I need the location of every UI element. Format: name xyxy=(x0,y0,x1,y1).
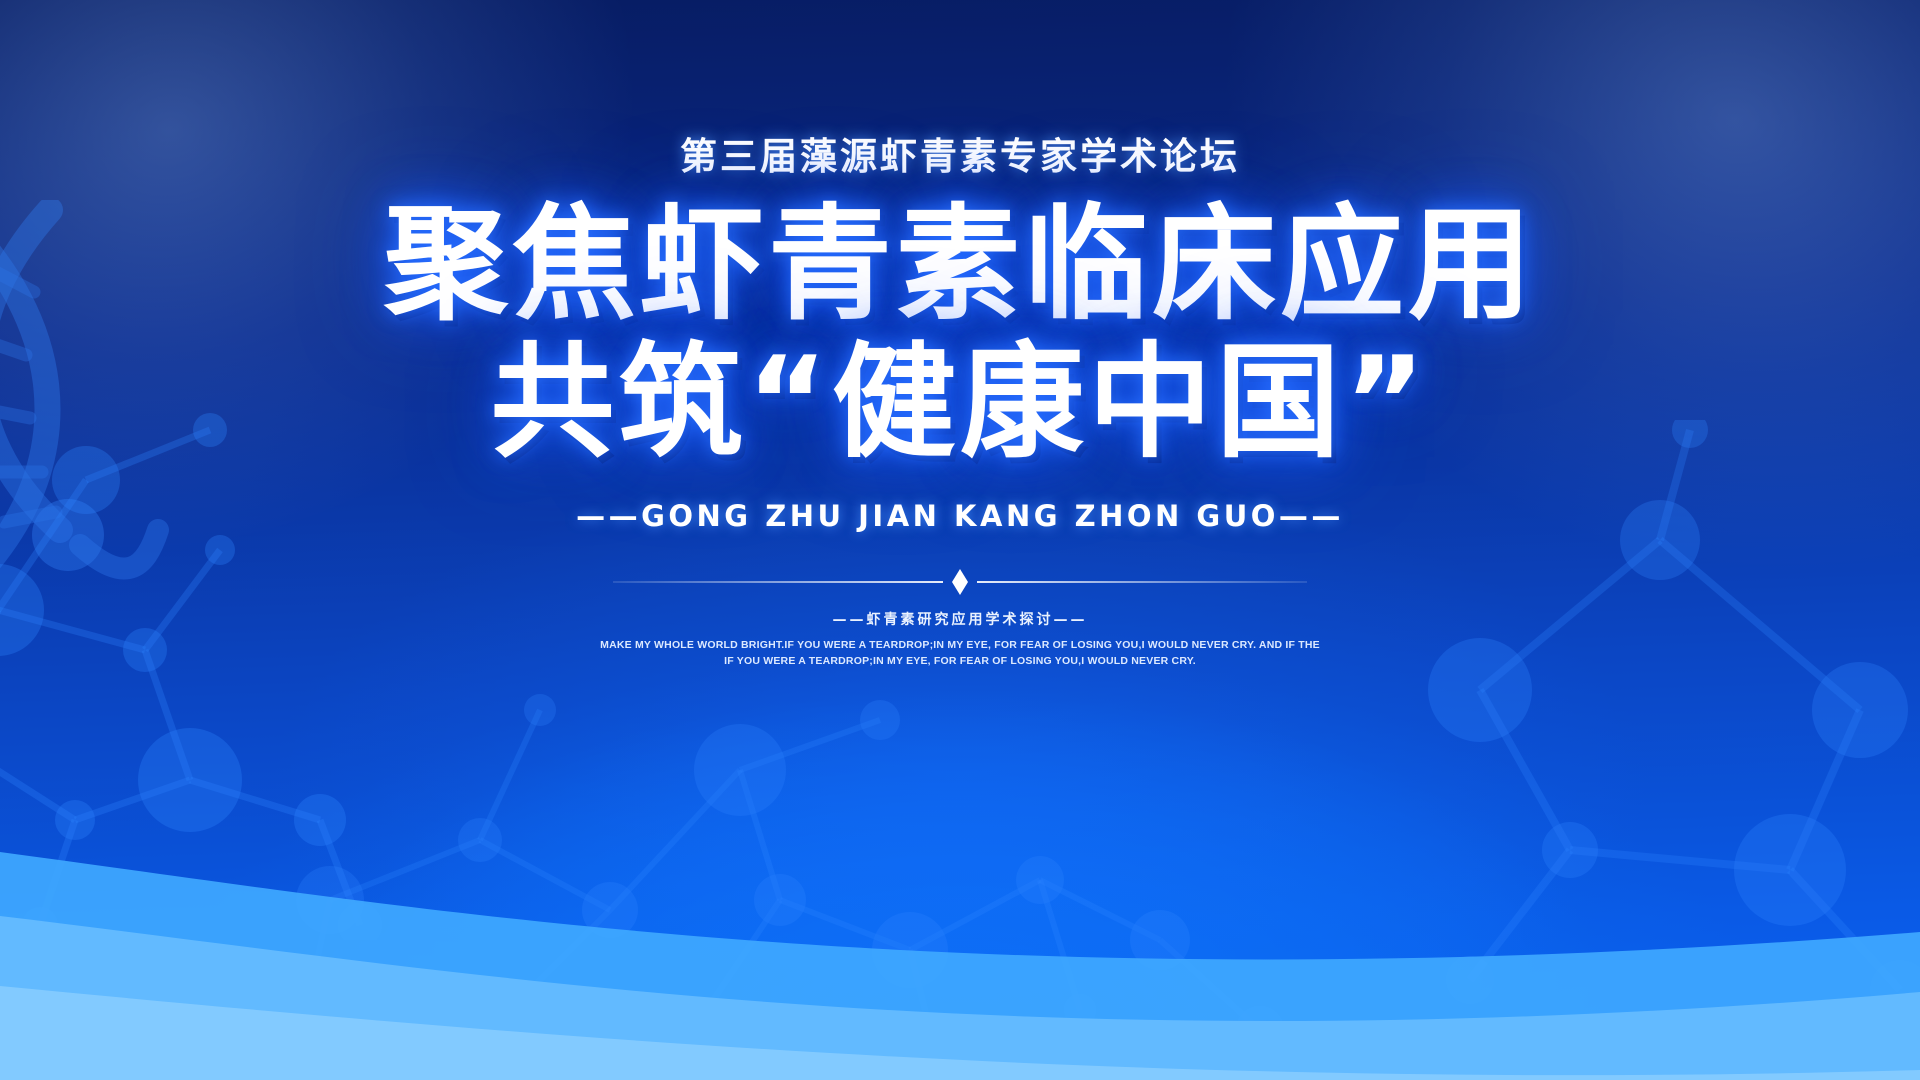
banner-content: 第三届藻源虾青素专家学术论坛 聚焦虾青素临床应用 共筑“健康中国” ——GONG… xyxy=(0,0,1920,670)
pinyin-subtitle: ——GONG ZHU JIAN KANG ZHON GUO—— xyxy=(0,499,1920,533)
fineprint-line-2: IF YOU WERE A TEARDROP;IN MY EYE, FOR FE… xyxy=(0,653,1920,669)
fineprint-line-1: MAKE MY WHOLE WORLD BRIGHT.IF YOU WERE A… xyxy=(0,637,1920,653)
hero-title-line-2: 共筑“健康中国” xyxy=(0,341,1920,465)
divider-line-right xyxy=(977,581,1307,583)
topic-subtitle: ——虾青素研究应用学术探讨—— xyxy=(0,609,1920,629)
hero-title-line-1: 聚焦虾青素临床应用 xyxy=(0,203,1920,327)
diamond-icon xyxy=(952,569,968,595)
divider xyxy=(0,569,1920,595)
divider-line-left xyxy=(613,581,943,583)
event-eyebrow-title: 第三届藻源虾青素专家学术论坛 xyxy=(0,138,1920,175)
banner-stage: 第三届藻源虾青素专家学术论坛 聚焦虾青素临床应用 共筑“健康中国” ——GONG… xyxy=(0,0,1920,1080)
wave-bands-icon xyxy=(0,740,1920,1080)
molecule-network-bottom-icon xyxy=(180,650,1380,1080)
